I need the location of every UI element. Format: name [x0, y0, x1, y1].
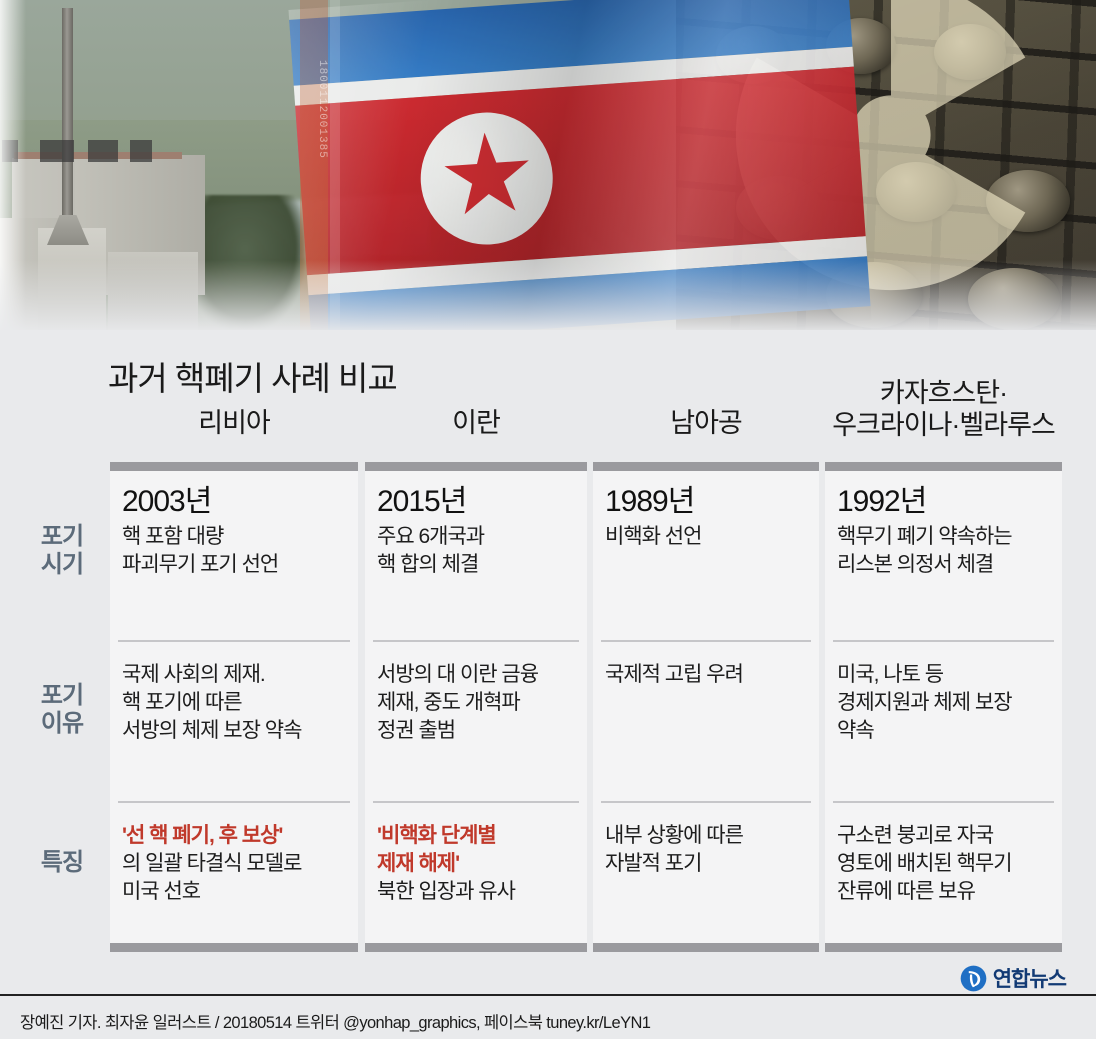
row-label-abandon-reason: 포기 이유 — [24, 682, 100, 739]
cell-r1-kazakhstan-group: 1992년 핵무기 폐기 약속하는 리스본 의정서 체결 — [837, 485, 1059, 579]
column-cap-bottom-kazakhstan-group — [825, 943, 1062, 952]
column-cap-top-south-africa — [593, 462, 819, 471]
cell-line: 핵 포함 대량 — [122, 523, 352, 551]
row-label-line-2: 시기 — [41, 551, 83, 578]
column-cap-top-iran — [365, 462, 587, 471]
row-separator — [833, 640, 1054, 642]
hero-photo: 1800112001385 — [0, 0, 1096, 330]
row-separator — [833, 801, 1054, 803]
cell-line: 서방의 대 이란 금융 — [377, 661, 582, 689]
cell-line: 정권 출범 — [377, 717, 582, 745]
cell-line-highlight: '비핵화 단계별 — [377, 822, 582, 850]
hero-bottom-fade — [0, 260, 1096, 330]
row-separator — [373, 640, 579, 642]
row-label-abandon-time: 포기 시기 — [24, 523, 100, 580]
row-separator — [373, 801, 579, 803]
yonhap-y-mark-icon — [960, 965, 987, 992]
cell-r3-libya: '선 핵 폐기, 후 보상' 의 일괄 타결식 모델로 미국 선호 — [122, 822, 352, 906]
row-label-characteristics: 특징 — [24, 849, 100, 877]
yonhap-logo-text: 연합뉴스 — [993, 963, 1066, 993]
cell-line: 서방의 체제 보장 약속 — [122, 717, 352, 745]
credit-line: 장예진 기자. 최자윤 일러스트 / 20180514 트위터 @yonhap_… — [20, 1009, 650, 1033]
cell-r3-south-africa: 내부 상황에 따른 자발적 포기 — [605, 822, 813, 878]
column-header-line-1: 카자흐스탄· — [880, 378, 1007, 408]
cell-line-highlight: 제재 해제' — [377, 850, 582, 878]
column-cap-bottom-libya — [110, 943, 358, 952]
cell-line: 핵무기 폐기 약속하는 — [837, 523, 1059, 551]
cell-r2-south-africa: 국제적 고립 우려 — [605, 661, 813, 689]
comparison-table: 리비아 이란 남아공 카자흐스탄· 우크라이나·벨라루스 — [0, 330, 1096, 985]
content-board: 과거 핵폐기 사례 비교 리비아 이란 남아공 카자흐스탄· 우크라이나·벨라루… — [0, 330, 1096, 985]
cell-r2-iran: 서방의 대 이란 금융 제재, 중도 개혁파 정권 출범 — [377, 661, 582, 745]
column-cap-bottom-iran — [365, 943, 587, 952]
cell-year: 2015년 — [377, 485, 582, 519]
cell-year: 1989년 — [605, 485, 813, 519]
cell-line: 리스본 의정서 체결 — [837, 551, 1059, 579]
film-serial-number: 1800112001385 — [298, 60, 328, 159]
row-label-line-1: 포기 — [41, 523, 83, 550]
cell-line: 비핵화 선언 — [605, 523, 813, 551]
cell-line-highlight: '선 핵 폐기, 후 보상' — [122, 822, 352, 850]
cell-line: 의 일괄 타결식 모델로 — [122, 850, 352, 878]
cell-line: 제재, 중도 개혁파 — [377, 689, 582, 717]
smokestack — [62, 8, 73, 238]
cell-line: 파괴무기 포기 선언 — [122, 551, 352, 579]
row-label-line-1: 포기 — [41, 682, 83, 709]
column-cap-top-kazakhstan-group — [825, 462, 1062, 471]
cell-r3-iran: '비핵화 단계별 제재 해제' 북한 입장과 유사 — [377, 822, 582, 906]
cell-line: 북한 입장과 유사 — [377, 878, 582, 906]
column-cap-bottom-south-africa — [593, 943, 819, 952]
column-header-iran: 이란 — [365, 408, 587, 440]
cell-line: 국제적 고립 우려 — [605, 661, 813, 689]
cell-line: 국제 사회의 제재. — [122, 661, 352, 689]
column-header-libya: 리비아 — [110, 408, 358, 440]
cell-year: 2003년 — [122, 485, 352, 519]
row-separator — [601, 640, 811, 642]
cell-r2-libya: 국제 사회의 제재. 핵 포기에 따른 서방의 체제 보장 약속 — [122, 661, 352, 745]
hangul-sign-2 — [40, 140, 74, 162]
cell-line: 영토에 배치된 핵무기 — [837, 850, 1059, 878]
cell-r1-iran: 2015년 주요 6개국과 핵 합의 체결 — [377, 485, 582, 579]
cell-line: 자발적 포기 — [605, 850, 813, 878]
footer-divider — [0, 994, 1096, 996]
row-separator — [118, 640, 350, 642]
cell-line: 구소련 붕괴로 자국 — [837, 822, 1059, 850]
row-label-line-2: 이유 — [41, 710, 83, 737]
infographic-poster: 1800112001385 과거 핵폐기 사례 비교 리비아 이란 남아공 카자… — [0, 0, 1096, 1039]
cell-line: 미국, 나토 등 — [837, 661, 1059, 689]
cell-line: 약속 — [837, 717, 1059, 745]
cell-year: 1992년 — [837, 485, 1059, 519]
yonhap-logo: 연합뉴스 — [960, 963, 1066, 993]
cell-line: 경제지원과 체제 보장 — [837, 689, 1059, 717]
cell-r2-kazakhstan-group: 미국, 나토 등 경제지원과 체제 보장 약속 — [837, 661, 1059, 745]
cell-line: 내부 상황에 따른 — [605, 822, 813, 850]
row-separator — [118, 801, 350, 803]
column-header-line-2: 우크라이나·벨라루스 — [832, 410, 1055, 440]
cell-line: 핵 포기에 따른 — [122, 689, 352, 717]
cell-line: 주요 6개국과 — [377, 523, 582, 551]
cell-r1-south-africa: 1989년 비핵화 선언 — [605, 485, 813, 551]
cell-r1-libya: 2003년 핵 포함 대량 파괴무기 포기 선언 — [122, 485, 352, 579]
cell-line: 핵 합의 체결 — [377, 551, 582, 579]
row-separator — [601, 801, 811, 803]
cell-line: 잔류에 따른 보유 — [837, 878, 1059, 906]
cell-line: 미국 선호 — [122, 878, 352, 906]
cell-r3-kazakhstan-group: 구소련 붕괴로 자국 영토에 배치된 핵무기 잔류에 따른 보유 — [837, 822, 1059, 906]
row-label-line-1: 특징 — [41, 849, 83, 876]
column-cap-top-libya — [110, 462, 358, 471]
column-header-kazakhstan-group: 카자흐스탄· 우크라이나·벨라루스 — [825, 378, 1062, 442]
hangul-sign-4 — [130, 140, 152, 162]
hangul-sign-3 — [88, 140, 118, 162]
column-header-south-africa: 남아공 — [593, 408, 819, 440]
